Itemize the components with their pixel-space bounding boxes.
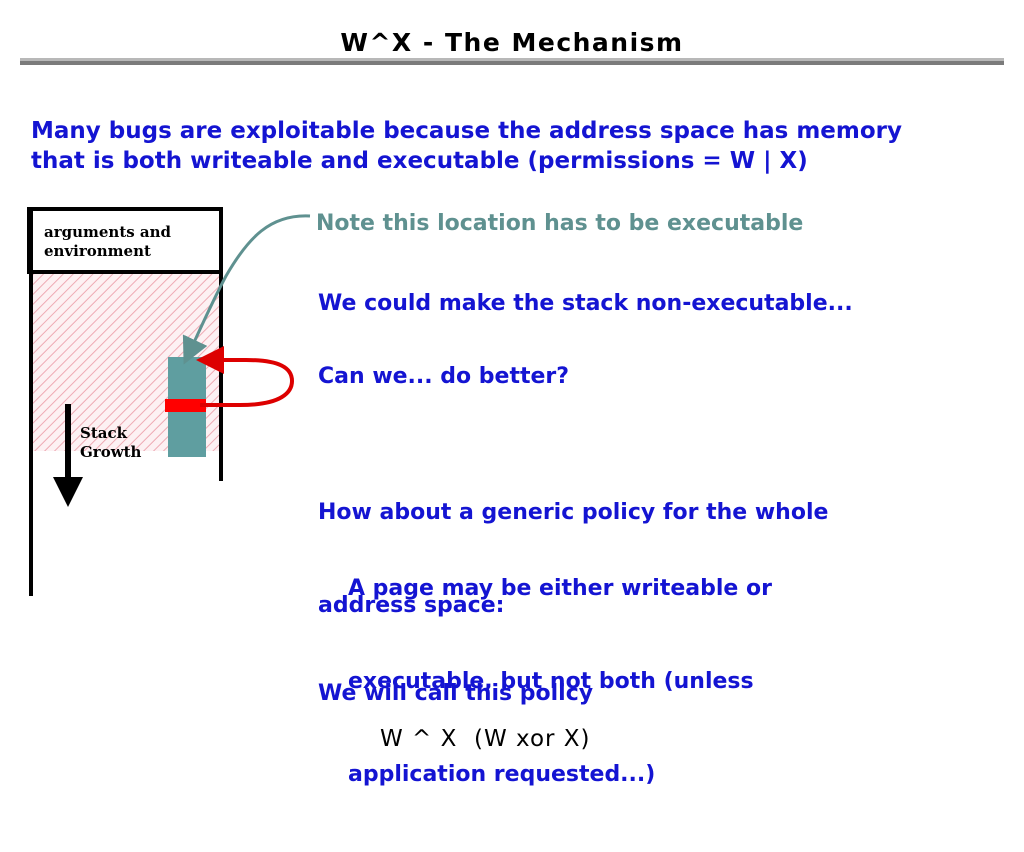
args-label-line-1: arguments and	[44, 223, 214, 242]
process-address-space-diagram: arguments and environment Stack Growth	[0, 0, 320, 640]
bullet-call-policy: We will call this policy	[318, 678, 593, 709]
address-space-svg	[0, 0, 330, 640]
policy-detail-line-3: application requested...)	[348, 759, 908, 790]
bullet-do-better: Can we... do better?	[318, 361, 569, 392]
stack-growth-line-1: Stack	[80, 424, 200, 443]
return-address-bar	[165, 399, 206, 412]
bullet-note-executable: Note this location has to be executable	[316, 208, 803, 239]
stack-growth-line-2: Growth	[80, 443, 200, 462]
wx-formula: W ^ X (W xor X)	[380, 724, 591, 755]
bullet-non-executable-stack: We could make the stack non-executable..…	[318, 288, 853, 319]
stack-growth-label: Stack Growth	[80, 424, 200, 462]
args-label-line-2: environment	[44, 242, 214, 261]
arguments-environment-label: arguments and environment	[44, 223, 214, 261]
policy-detail-line-1: A page may be either writeable or	[348, 573, 908, 604]
